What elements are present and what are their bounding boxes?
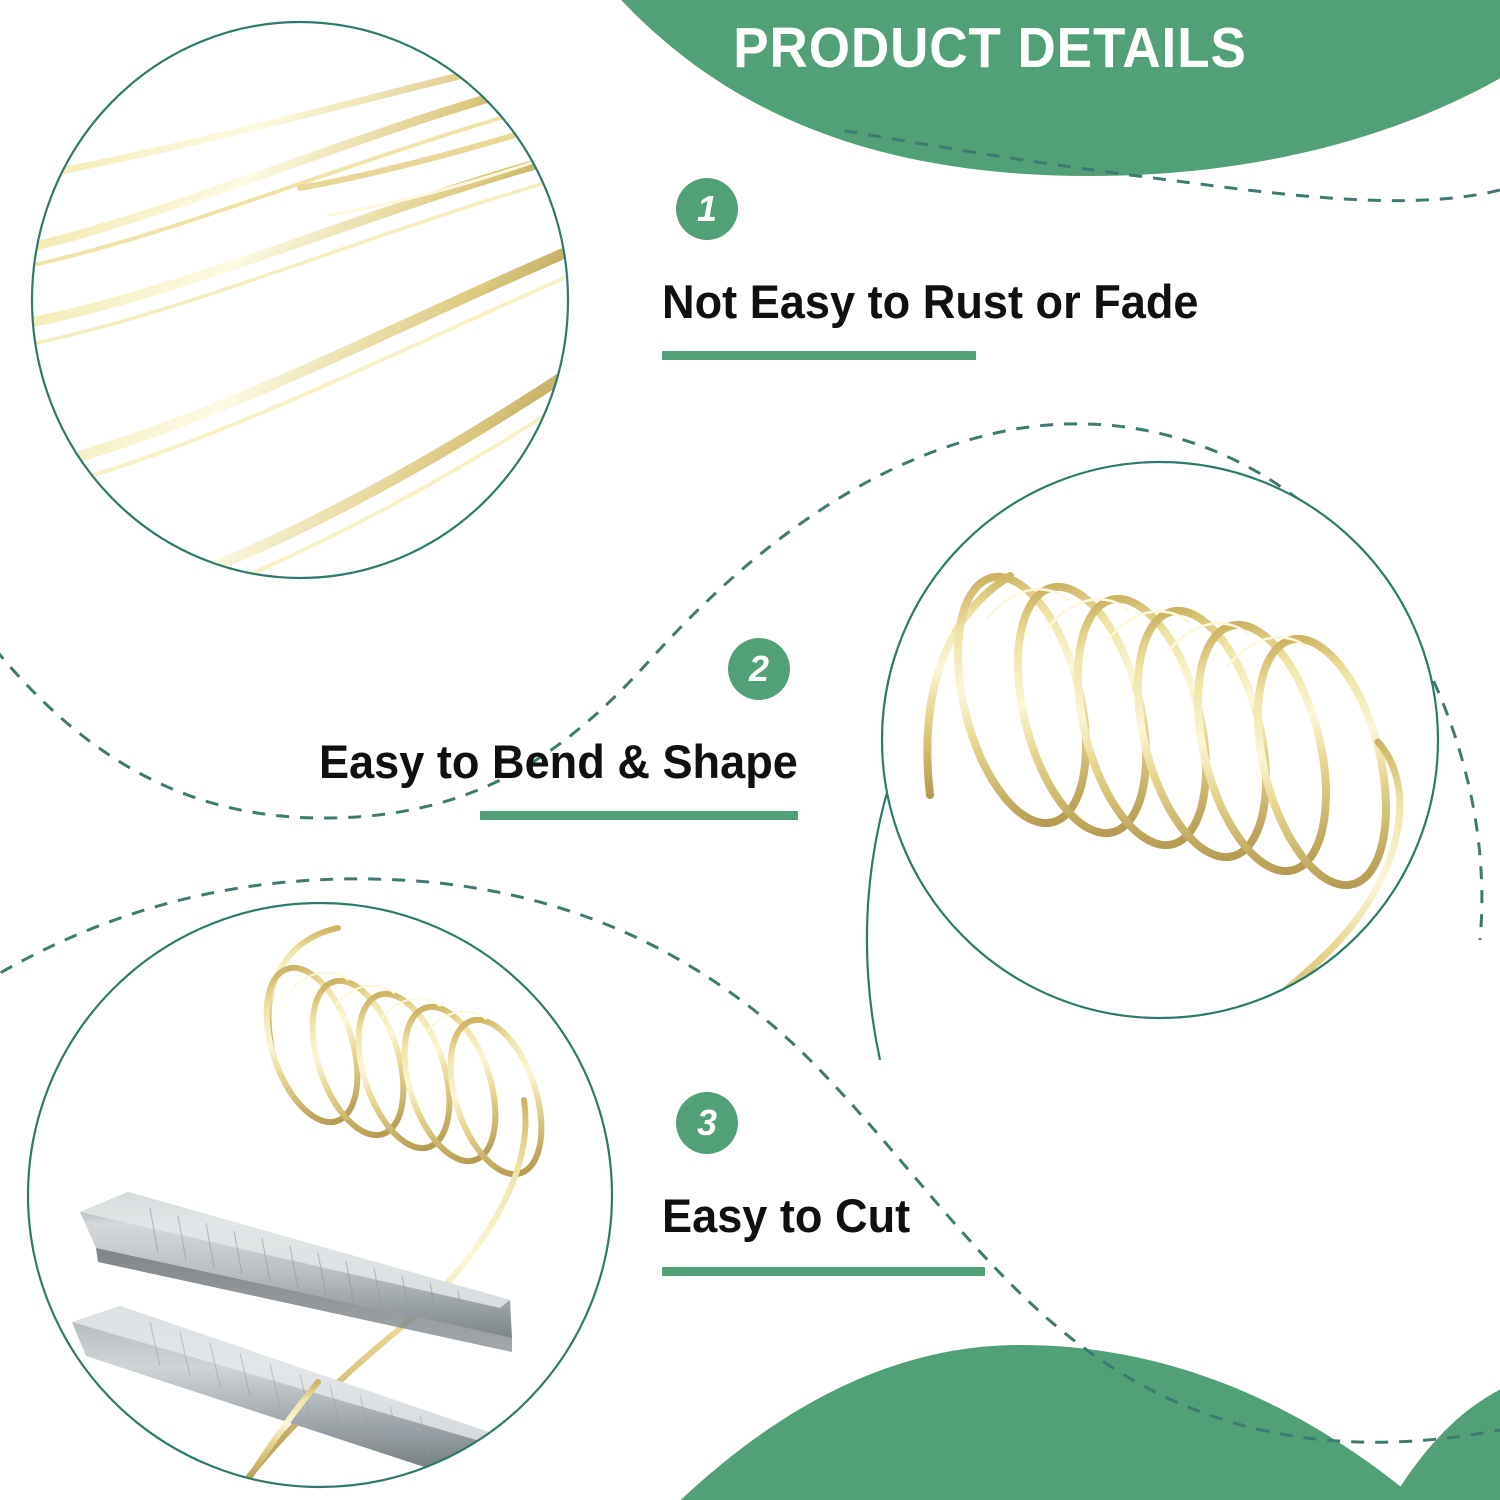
feature-number-badge-2: 2: [728, 638, 790, 700]
gold-wire-strands-photo: [0, 22, 612, 652]
feature-underline-3: [662, 1267, 985, 1276]
teal-solid-accent-curve: [867, 497, 1250, 1060]
feature-item-3: 3 Easy to Cut: [662, 1092, 985, 1276]
green-footer-blob-extension: [1380, 1380, 1500, 1500]
page-title: PRODUCT DETAILS: [665, 8, 1316, 88]
feature-number-badge-1: 1: [676, 178, 738, 240]
feature-title-2: Easy to Bend & Shape: [319, 734, 798, 789]
gold-wire-coil-photo: [880, 460, 1440, 1075]
scissors-cutting-wire-photo: [28, 903, 612, 1487]
feature-title-1: Not Easy to Rust or Fade: [662, 274, 1199, 329]
feature-underline-1: [662, 351, 976, 360]
feature-item-2: 2 Easy to Bend & Shape: [258, 638, 798, 820]
green-footer-blob: [660, 1345, 1440, 1500]
feature-underline-2: [480, 811, 798, 820]
product-details-infographic: PRODUCT DETAILS 1 Not Easy to Rust or Fa…: [0, 0, 1500, 1500]
feature-item-1: 1 Not Easy to Rust or Fade: [662, 178, 1221, 360]
feature-title-3: Easy to Cut: [662, 1188, 972, 1243]
feature-number-badge-3: 3: [676, 1092, 738, 1154]
